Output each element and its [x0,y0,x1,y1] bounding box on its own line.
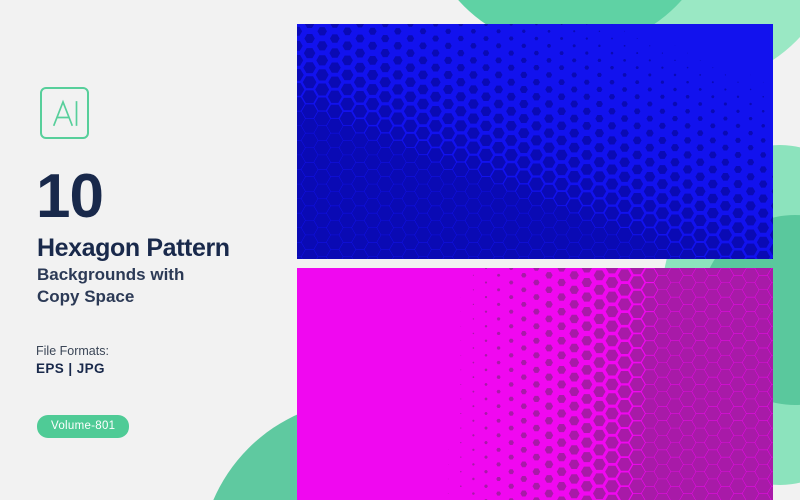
info-column: 10 Hexagon Pattern Backgrounds with Copy… [0,0,297,500]
volume-badge: Volume-801 [37,415,129,438]
magenta-hexagon-pattern [297,268,773,500]
item-count: 10 [36,166,103,228]
ai-logo-icon [40,87,89,139]
page-subtitle: Backgrounds with Copy Space [37,264,277,309]
poster-canvas: 10 Hexagon Pattern Backgrounds with Copy… [0,0,800,500]
blue-hexagon-preview[interactable] [297,24,773,259]
page-subtitle-line1: Backgrounds with [37,264,277,286]
magenta-hexagon-preview[interactable] [297,268,773,500]
file-formats-label: File Formats: [36,344,109,358]
page-title: Hexagon Pattern [37,236,230,261]
page-subtitle-line2: Copy Space [37,286,277,308]
blue-hexagon-pattern [297,24,773,259]
file-formats-value: EPS | JPG [36,361,105,376]
